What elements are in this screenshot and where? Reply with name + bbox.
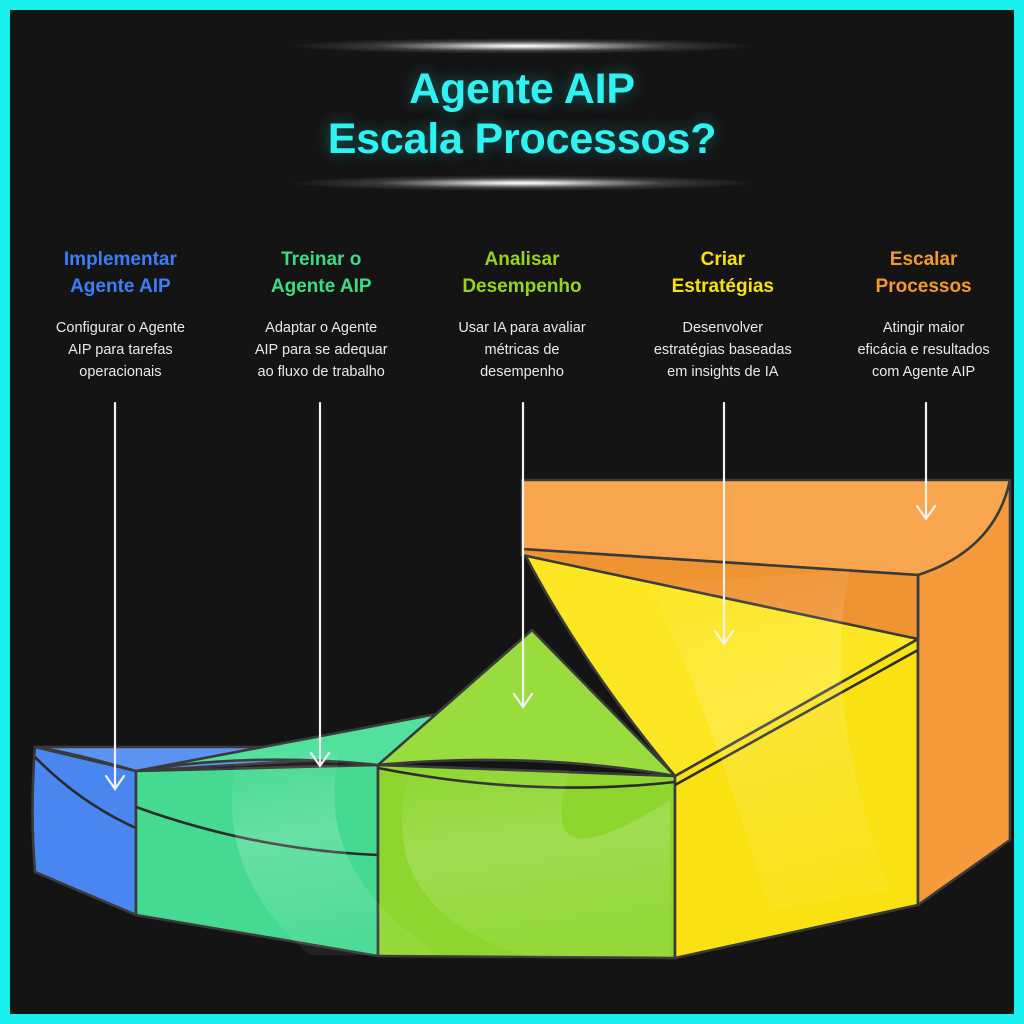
step-1-description: Configurar o Agente AIP para tarefas ope…	[26, 317, 215, 383]
page-title: Agente AIP Escala Processos?	[10, 64, 1024, 165]
title-line-1: Agente AIP	[10, 64, 1024, 114]
step-3-heading-line-1: Analisar	[428, 246, 617, 273]
title-glow-top	[287, 38, 757, 54]
step-4-heading-line-2: Estratégias	[628, 273, 817, 300]
step-3-heading-line-2: Desempenho	[428, 273, 617, 300]
step-1-body	[33, 747, 137, 915]
step-5-heading-line-2: Processos	[829, 273, 1018, 300]
step-2-desc-line-2: AIP para se adequar	[227, 339, 416, 361]
title-glow-bottom	[287, 175, 757, 191]
step-5-desc-line-3: com Agente AIP	[829, 361, 1018, 383]
step-1-heading-line-2: Agente AIP	[26, 273, 215, 300]
label-row: Implementar Agente AIP Configurar o Agen…	[20, 246, 1024, 383]
step-4-description: Desenvolver estratégias baseadas em insi…	[628, 317, 817, 383]
step-3-desc-line-3: desempenho	[428, 361, 617, 383]
step-label-4[interactable]: Criar Estratégias Desenvolver estratégia…	[622, 246, 823, 383]
step-label-5[interactable]: Escalar Processos Atingir maior eficácia…	[823, 246, 1024, 383]
step-label-2[interactable]: Treinar o Agente AIP Adaptar o Agente AI…	[221, 246, 422, 383]
step-4-heading-line-1: Criar	[628, 246, 817, 273]
step-2-description: Adaptar o Agente AIP para se adequar ao …	[227, 317, 416, 383]
step-5-desc-line-2: eficácia e resultados	[829, 339, 1018, 361]
step-1-desc-line-3: operacionais	[26, 361, 215, 383]
step-5-heading-line-1: Escalar	[829, 246, 1018, 273]
title-line-2: Escala Processos?	[10, 114, 1024, 164]
step-3-desc-line-2: métricas de	[428, 339, 617, 361]
infographic-page: Agente AIP Escala Processos?	[0, 0, 1024, 1024]
step-4-heading: Criar Estratégias	[628, 246, 817, 301]
step-4-desc-line-3: em insights de IA	[628, 361, 817, 383]
step-1-heading: Implementar Agente AIP	[26, 246, 215, 301]
step-3-heading: Analisar Desempenho	[428, 246, 617, 301]
title-block: Agente AIP Escala Processos?	[10, 38, 1024, 191]
step-3-description: Usar IA para avaliar métricas de desempe…	[428, 317, 617, 383]
step-2-heading-line-1: Treinar o	[227, 246, 416, 273]
step-4-desc-line-2: estratégias baseadas	[628, 339, 817, 361]
step-3-desc-line-1: Usar IA para avaliar	[428, 317, 617, 339]
step-2-desc-line-3: ao fluxo de trabalho	[227, 361, 416, 383]
step-1-desc-line-2: AIP para tarefas	[26, 339, 215, 361]
step-2-heading: Treinar o Agente AIP	[227, 246, 416, 301]
step-5-heading: Escalar Processos	[829, 246, 1018, 301]
step-5-description: Atingir maior eficácia e resultados com …	[829, 317, 1018, 383]
step-4-desc-line-1: Desenvolver	[628, 317, 817, 339]
step-5-desc-line-1: Atingir maior	[829, 317, 1018, 339]
step-label-3[interactable]: Analisar Desempenho Usar IA para avaliar…	[422, 246, 623, 383]
step-2-heading-line-2: Agente AIP	[227, 273, 416, 300]
step-1-heading-line-1: Implementar	[26, 246, 215, 273]
step-label-1[interactable]: Implementar Agente AIP Configurar o Agen…	[20, 246, 221, 383]
step-2-desc-line-1: Adaptar o Agente	[227, 317, 416, 339]
step-1-desc-line-1: Configurar o Agente	[26, 317, 215, 339]
